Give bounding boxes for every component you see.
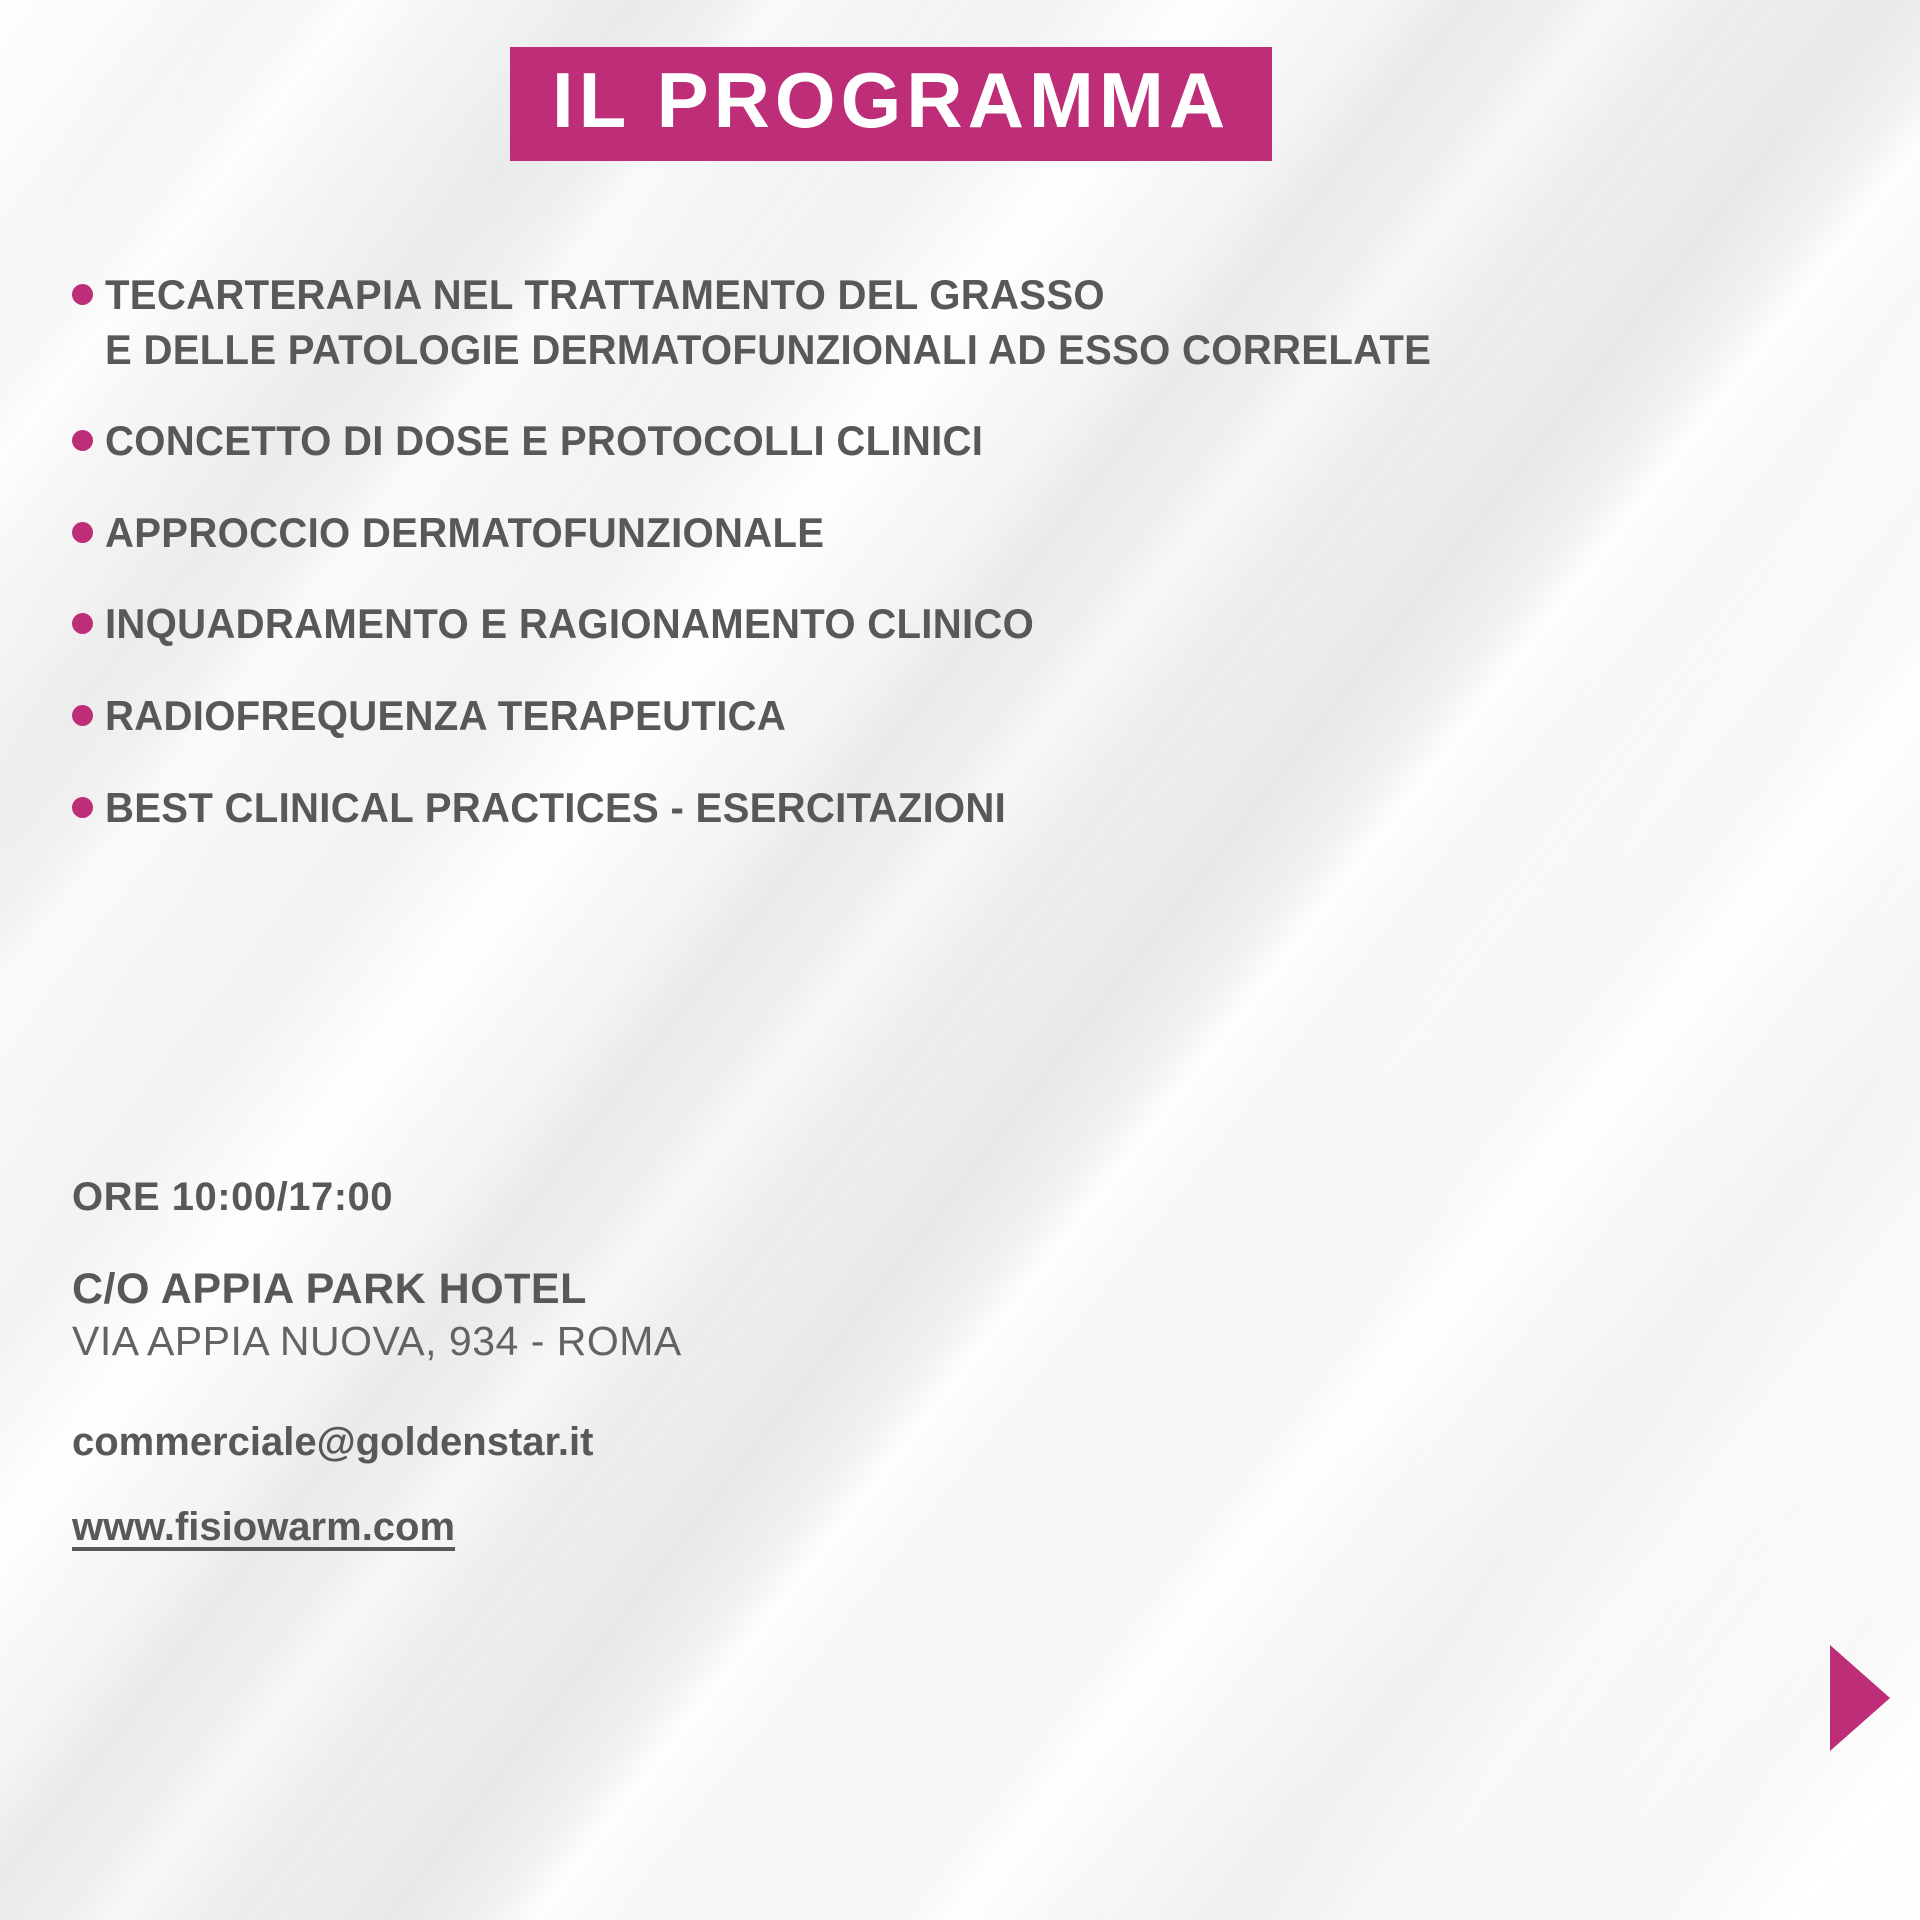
list-item-text: BEST CLINICAL PRACTICES - ESERCITAZIONI xyxy=(105,781,1862,836)
list-item: INQUADRAMENTO E RAGIONAMENTO CLINICO xyxy=(72,597,1862,652)
list-item-text: RADIOFREQUENZA TERAPEUTICA xyxy=(105,689,1862,744)
list-item-line: APPROCCIO DERMATOFUNZIONALE xyxy=(105,506,1783,561)
list-item-text: TECARTERAPIA NEL TRATTAMENTO DEL GRASSO … xyxy=(105,268,1862,377)
page-title-banner: IL PROGRAMMA xyxy=(510,47,1272,161)
bullet-dot-icon xyxy=(72,797,93,818)
list-item-line: TECARTERAPIA NEL TRATTAMENTO DEL GRASSO xyxy=(105,268,1783,323)
list-item: TECARTERAPIA NEL TRATTAMENTO DEL GRASSO … xyxy=(72,268,1862,377)
list-item-line: CONCETTO DI DOSE E PROTOCOLLI CLINICI xyxy=(105,414,1783,469)
list-item-line: BEST CLINICAL PRACTICES - ESERCITAZIONI xyxy=(105,781,1783,836)
event-address: VIA APPIA NUOVA, 934 - ROMA xyxy=(72,1318,1172,1365)
list-item: APPROCCIO DERMATOFUNZIONALE xyxy=(72,506,1862,561)
bullet-dot-icon xyxy=(72,430,93,451)
list-item-line: E DELLE PATOLOGIE DERMATOFUNZIONALI AD E… xyxy=(105,323,1783,378)
list-item-text: INQUADRAMENTO E RAGIONAMENTO CLINICO xyxy=(105,597,1862,652)
list-item-line: RADIOFREQUENZA TERAPEUTICA xyxy=(105,689,1783,744)
poster-canvas: IL PROGRAMMA TECARTERAPIA NEL TRATTAMENT… xyxy=(0,0,1920,1920)
play-triangle-icon xyxy=(1830,1645,1890,1751)
bullet-dot-icon xyxy=(72,613,93,634)
bullet-dot-icon xyxy=(72,705,93,726)
list-item-text: APPROCCIO DERMATOFUNZIONALE xyxy=(105,506,1862,561)
event-hours: ORE 10:00/17:00 xyxy=(72,1175,1172,1220)
page-title: IL PROGRAMMA xyxy=(552,61,1230,139)
list-item: RADIOFREQUENZA TERAPEUTICA xyxy=(72,689,1862,744)
event-venue: C/O APPIA PARK HOTEL xyxy=(72,1265,1172,1314)
program-list: TECARTERAPIA NEL TRATTAMENTO DEL GRASSO … xyxy=(72,268,1862,872)
event-info-block: ORE 10:00/17:00 C/O APPIA PARK HOTEL VIA… xyxy=(72,1175,1172,1550)
bullet-dot-icon xyxy=(72,522,93,543)
contact-website[interactable]: www.fisiowarm.com xyxy=(72,1505,1172,1550)
list-item-text: CONCETTO DI DOSE E PROTOCOLLI CLINICI xyxy=(105,414,1862,469)
list-item: CONCETTO DI DOSE E PROTOCOLLI CLINICI xyxy=(72,414,1862,469)
list-item: BEST CLINICAL PRACTICES - ESERCITAZIONI xyxy=(72,781,1862,836)
list-item-line: INQUADRAMENTO E RAGIONAMENTO CLINICO xyxy=(105,597,1783,652)
bullet-dot-icon xyxy=(72,284,93,305)
contact-email[interactable]: commerciale@goldenstar.it xyxy=(72,1420,1172,1465)
